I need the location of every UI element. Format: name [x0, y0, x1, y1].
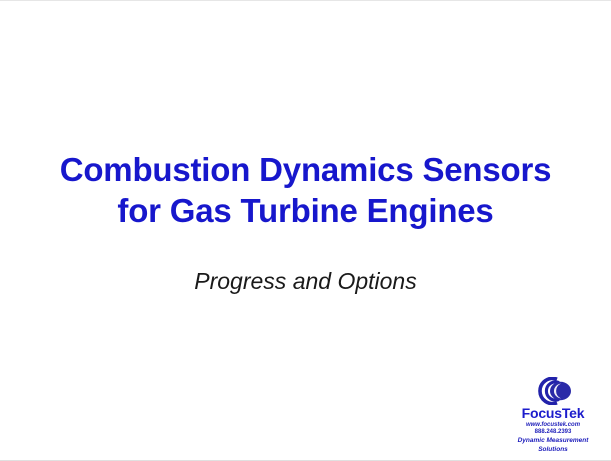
logo-tagline-line-1: Dynamic Measurement [501, 437, 605, 445]
concentric-arcs-icon [527, 377, 579, 405]
presentation-slide: Combustion Dynamics Sensors for Gas Turb… [0, 0, 611, 461]
slide-title: Combustion Dynamics Sensors for Gas Turb… [0, 149, 611, 231]
logo-phone-number: 888.248.2393 [501, 429, 605, 436]
logo-website-url: www.focustek.com [501, 422, 605, 429]
logo-tagline-line-2: Solutions [501, 446, 605, 454]
focustek-logo: FocusTek www.focustek.com 888.248.2393 D… [501, 377, 605, 454]
slide-subtitle: Progress and Options [0, 266, 611, 296]
slide-title-line-2: for Gas Turbine Engines [0, 190, 611, 231]
logo-wordmark: FocusTek [501, 406, 605, 421]
slide-title-line-1: Combustion Dynamics Sensors [0, 149, 611, 190]
